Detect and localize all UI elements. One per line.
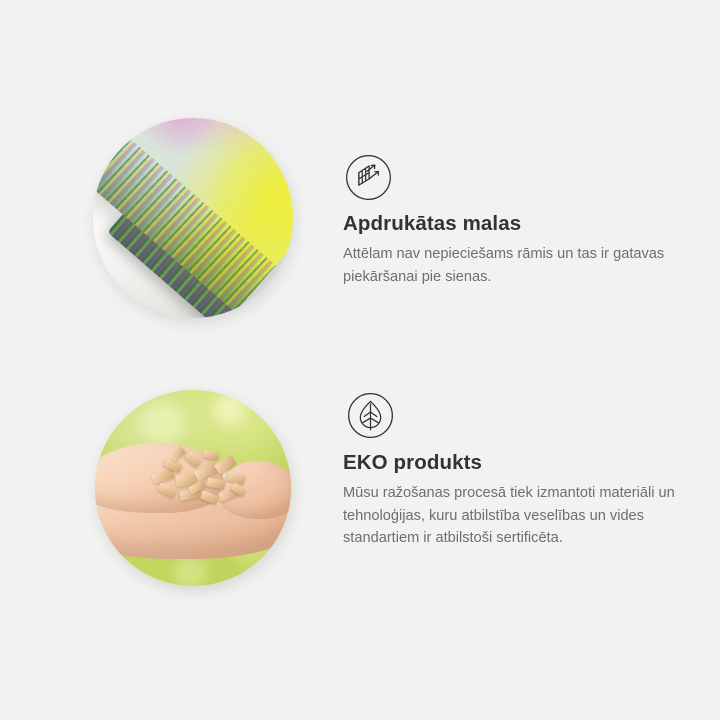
wrapped-canvas-edge-icon bbox=[345, 154, 392, 201]
canvas-print-corner-photo bbox=[88, 113, 300, 331]
bokeh-dot bbox=[173, 555, 207, 586]
feature-title-eko-product: EKO produkts bbox=[343, 451, 482, 475]
feature-title-printed-edges: Apdrukātas malas bbox=[343, 212, 521, 236]
wood-chip-pile bbox=[150, 449, 252, 516]
canvas-clip bbox=[93, 118, 293, 318]
feature-panel: Apdrukātas malas Attēlam nav nepieciešam… bbox=[0, 0, 720, 720]
hands-holding-wood-chips-photo bbox=[95, 390, 291, 586]
feature-body-printed-edges: Attēlam nav nepieciešams rāmis un tas ir… bbox=[343, 243, 683, 288]
leaf-icon bbox=[347, 392, 394, 439]
bokeh-dot bbox=[213, 394, 243, 424]
feature-body-eko-product: Mūsu ražošanas procesā tiek izmantoti ma… bbox=[343, 482, 683, 550]
bokeh-dot bbox=[142, 402, 184, 444]
